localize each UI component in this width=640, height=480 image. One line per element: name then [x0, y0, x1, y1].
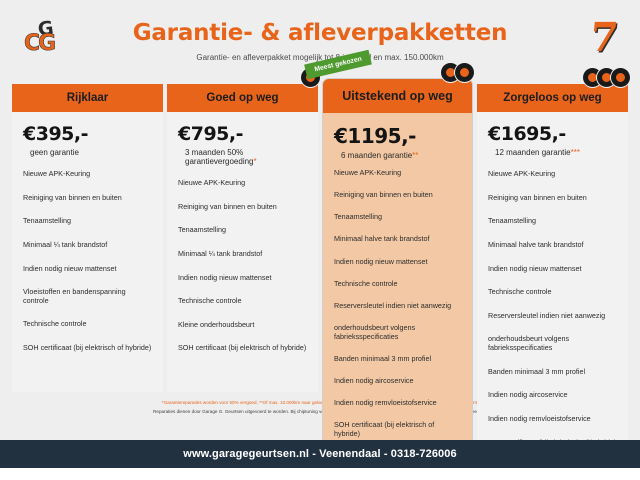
list-item: Reserversleutel indien niet aanwezig — [334, 302, 461, 311]
list-item: Tenaamstelling — [334, 213, 461, 222]
package-name: Uitstekend op weg — [342, 89, 452, 103]
list-item: Indien nodig nieuw mattenset — [178, 274, 307, 283]
warranty-text: 3 maanden 50% garantievergoeding — [185, 148, 254, 166]
package-column-zorgeloos-op-weg[interactable]: Zorgeloos op weg €1695,- 12 maanden gara… — [477, 84, 628, 392]
tire-icon — [455, 63, 474, 82]
package-price: €1195,- — [334, 124, 461, 148]
package-warranty: 6 maanden garantie** — [341, 151, 461, 160]
list-item: Tenaamstelling — [23, 217, 152, 226]
list-item: Reserversleutel indien niet aanwezig — [488, 312, 617, 321]
list-item: Reiniging van binnen en buiten — [23, 194, 152, 203]
bottom-strip — [0, 468, 640, 480]
package-warranty: geen garantie — [30, 148, 152, 157]
list-item: Kleine onderhoudsbeurt — [178, 321, 307, 330]
list-item: Technische controle — [23, 320, 152, 329]
list-item: Minimaal halve tank brandstof — [488, 241, 617, 250]
package-header: Goed op weg — [167, 84, 318, 112]
list-item: Vloeistoffen en bandenspanning controle — [23, 288, 152, 305]
package-body: €1195,- 6 maanden garantie** Nieuwe APK-… — [322, 113, 473, 467]
package-header: Rijklaar — [12, 84, 163, 112]
package-header: Uitstekend op weg Meest gekozen — [322, 78, 473, 113]
feature-list: Nieuwe APK-Keuring Reiniging van binnen … — [334, 169, 461, 438]
pricing-poster: G CG 7 Garantie- & afleverpakketten Gara… — [0, 0, 640, 480]
package-warranty: 3 maanden 50% garantievergoeding* — [185, 148, 307, 166]
list-item: Tenaamstelling — [178, 226, 307, 235]
tire-rating — [588, 68, 630, 87]
warranty-stars: *** — [571, 148, 580, 157]
list-item: Nieuwe APK-Keuring — [334, 169, 461, 178]
warranty-text: geen garantie — [30, 148, 79, 157]
list-item: Nieuwe APK-Keuring — [488, 170, 617, 179]
contact-text: www.garagegeurtsen.nl - Veenendaal - 031… — [183, 448, 456, 460]
package-warranty: 12 maanden garantie*** — [495, 148, 617, 157]
list-item: Technische controle — [178, 297, 307, 306]
page-title: Garantie- & afleverpakketten — [0, 0, 640, 46]
package-header: Zorgeloos op weg — [477, 84, 628, 112]
feature-list: Nieuwe APK-Keuring Reiniging van binnen … — [178, 179, 307, 353]
list-item: Nieuwe APK-Keuring — [178, 179, 307, 188]
list-item: Indien nodig aircoservice — [334, 377, 461, 386]
list-item: Technische controle — [488, 288, 617, 297]
package-name: Zorgeloos op weg — [503, 92, 601, 104]
list-item: SOH certificaat (bij elektrisch of hybri… — [23, 344, 152, 353]
package-body: €1695,- 12 maanden garantie*** Nieuwe AP… — [477, 112, 628, 468]
page-subtitle: Garantie- en afleverpakket mogelijk tot … — [0, 46, 640, 62]
list-item: Nieuwe APK-Keuring — [23, 170, 152, 179]
package-body: €795,- 3 maanden 50% garantievergoeding*… — [167, 112, 318, 392]
tire-icon — [611, 68, 630, 87]
seven-logo-icon: 7 — [588, 14, 621, 61]
list-item: Minimaal ¼ tank brandstof — [178, 250, 307, 259]
list-item: Indien nodig remvloeistofservice — [488, 415, 617, 424]
warranty-text: 12 maanden garantie — [495, 148, 571, 157]
tire-rating — [446, 63, 474, 82]
list-item: onderhoudsbeurt volgens fabrieksspecific… — [488, 335, 617, 352]
list-item: SOH certificaat (bij elektrisch of hybri… — [178, 344, 307, 353]
footnote-part-a: *Garantiereparaties worden voor 50% verg… — [162, 400, 259, 405]
list-item: Reiniging van binnen en buiten — [178, 203, 307, 212]
logo-cg-text: CG — [24, 31, 54, 56]
warranty-text: 6 maanden garantie — [341, 151, 412, 160]
feature-list: Nieuwe APK-Keuring Reiniging van binnen … — [23, 170, 152, 353]
package-column-rijklaar[interactable]: Rijklaar €395,- geen garantie Nieuwe APK… — [12, 84, 163, 392]
list-item: Technische controle — [334, 280, 461, 289]
list-item: Banden minimaal 3 mm profiel — [334, 355, 461, 364]
list-item: SOH certificaat (bij elektrisch of hybri… — [334, 421, 461, 438]
list-item: Indien nodig aircoservice — [488, 391, 617, 400]
warranty-stars: * — [254, 157, 257, 166]
list-item: Reiniging van binnen en buiten — [488, 194, 617, 203]
list-item: Indien nodig nieuw mattenset — [334, 258, 461, 267]
package-column-uitstekend-op-weg[interactable]: Uitstekend op weg Meest gekozen €1195,- … — [322, 78, 473, 392]
list-item: Indien nodig remvloeistofservice — [334, 399, 461, 408]
package-columns: Rijklaar €395,- geen garantie Nieuwe APK… — [0, 72, 640, 392]
warranty-stars: ** — [412, 151, 418, 160]
list-item: Indien nodig nieuw mattenset — [488, 265, 617, 274]
contact-bar: www.garagegeurtsen.nl - Veenendaal - 031… — [0, 440, 640, 468]
package-price: €1695,- — [488, 123, 617, 145]
package-name: Goed op weg — [206, 92, 278, 104]
list-item: Banden minimaal 3 mm profiel — [488, 368, 617, 377]
list-item: Minimaal halve tank brandstof — [334, 235, 461, 244]
package-column-goed-op-weg[interactable]: Goed op weg €795,- 3 maanden 50% garanti… — [167, 84, 318, 392]
package-price: €395,- — [23, 123, 152, 145]
garage-logo: G CG — [22, 18, 68, 60]
feature-list: Nieuwe APK-Keuring Reiniging van binnen … — [488, 170, 617, 447]
list-item: Minimaal ¼ tank brandstof — [23, 241, 152, 250]
package-price: €795,- — [178, 123, 307, 145]
list-item: Tenaamstelling — [488, 217, 617, 226]
list-item: Indien nodig nieuw mattenset — [23, 265, 152, 274]
package-name: Rijklaar — [67, 92, 109, 104]
list-item: onderhoudsbeurt volgens fabrieksspecific… — [334, 324, 461, 341]
package-body: €395,- geen garantie Nieuwe APK-Keuring … — [12, 112, 163, 392]
list-item: Reiniging van binnen en buiten — [334, 191, 461, 200]
